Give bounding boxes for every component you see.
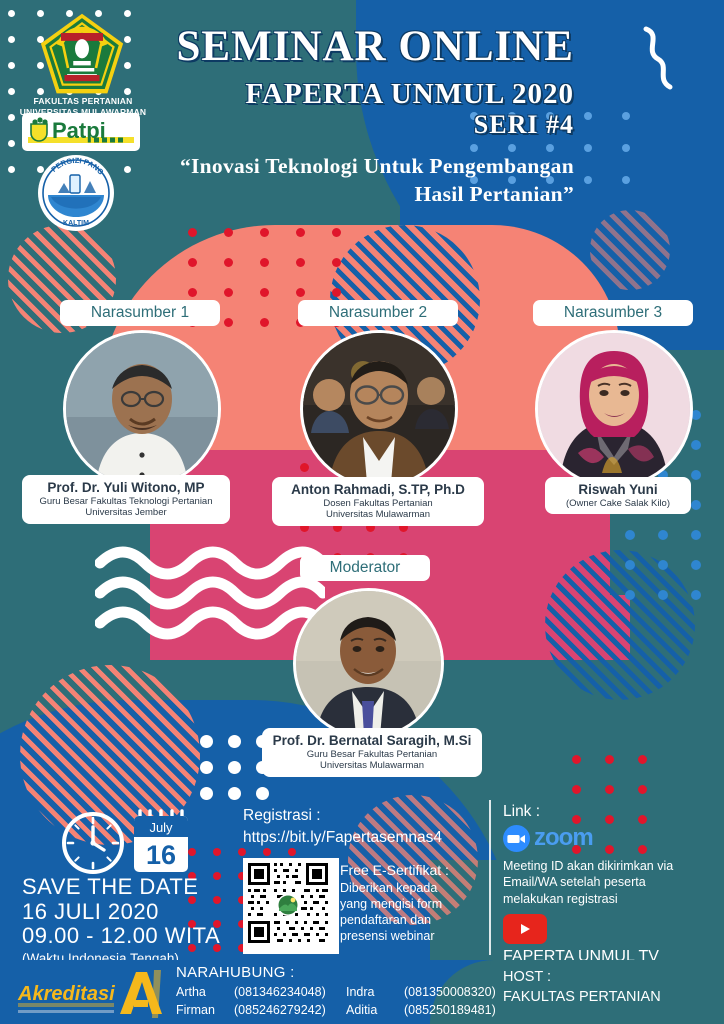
certificate-line1: Diberikan kepada <box>340 880 470 896</box>
decorative-dot <box>625 530 635 540</box>
host-block: HOST : FAKULTAS PERTANIAN <box>503 968 661 1007</box>
speaker-2-affiliation-2: Universitas Mulawarman <box>278 509 478 521</box>
svg-text:KALTIM: KALTIM <box>63 220 89 227</box>
contact-phone-4: (085250189481) <box>404 1003 496 1017</box>
decorative-dot <box>224 258 233 267</box>
decorative-dot <box>332 228 341 237</box>
speaker-2-photo <box>300 330 458 488</box>
moderator-name: Prof. Dr. Bernatal Saragih, M.Si <box>268 733 476 749</box>
speaker-3-photo <box>535 330 693 488</box>
speaker-3-chip: Narasumber 3 <box>533 300 693 326</box>
contact-name-1: Artha <box>176 983 234 1001</box>
theme-line1: “Inovasi Teknologi Untuk Pengembangan <box>34 152 574 180</box>
striped-circle-salmon-topright <box>590 210 670 290</box>
speaker-2-affiliation-1: Dosen Fakultas Pertanian <box>278 498 478 510</box>
decorative-dot <box>691 530 701 540</box>
decorative-dot <box>691 470 701 480</box>
event-time: 09.00 - 12.00 WITA <box>22 924 220 949</box>
contact-name-3: Firman <box>176 1001 234 1019</box>
zoom-camera-icon <box>503 825 530 852</box>
decorative-dot <box>188 288 197 297</box>
meeting-line3: melakukan registrasi <box>503 891 708 907</box>
save-the-date-block: SAVE THE DATE 16 JULI 2020 09.00 - 12.00… <box>22 875 220 969</box>
decorative-dot <box>188 228 197 237</box>
contacts-block: NARAHUBUNG : Artha(081346234048)Indra(08… <box>176 963 496 1019</box>
speaker-3-name: Riswah Yuni <box>551 482 685 498</box>
clock-icon <box>60 810 126 876</box>
decorative-dot <box>224 228 233 237</box>
decorative-dot <box>638 785 647 794</box>
decorative-dot <box>200 761 213 774</box>
decorative-dot <box>224 288 233 297</box>
decorative-dot <box>332 288 341 297</box>
decorative-dot <box>572 785 581 794</box>
zoom-wordmark: zoom <box>534 824 593 852</box>
speaker-3-namecard: Riswah Yuni (Owner Cake Salak Kilo) <box>545 477 691 514</box>
speaker-1-affiliation-1: Guru Besar Fakultas Teknologi Pertanian <box>28 496 224 508</box>
header-block: SEMINAR ONLINE FAPERTA UNMUL 2020 SERI #… <box>0 0 724 220</box>
decorative-dot <box>658 530 668 540</box>
speaker-1-photo <box>63 330 221 488</box>
contact-row-1: Artha(081346234048)Indra(081350008320) <box>176 983 496 1001</box>
contact-phone-1: (081346234048) <box>234 983 346 1001</box>
registration-url[interactable]: https://bit.ly/Fapertasemnas4 <box>243 827 442 849</box>
link-label: Link : <box>503 803 708 821</box>
registration-qr-code[interactable] <box>243 858 339 954</box>
page-series: SERI #4 <box>474 110 574 140</box>
speaker-2-chip: Narasumber 2 <box>298 300 458 326</box>
decorative-dot <box>300 463 309 472</box>
decorative-dot <box>260 228 269 237</box>
decorative-dot <box>296 288 305 297</box>
calendar-icon: July 16 <box>130 808 192 878</box>
decorative-dot <box>200 735 213 748</box>
decorative-dot <box>625 560 635 570</box>
meeting-info: Meeting ID akan dikirimkan via Email/WA … <box>503 858 708 907</box>
speaker-3-affiliation-1: (Owner Cake Salak Kilo) <box>551 498 685 510</box>
certificate-line2: yang mengisi form <box>340 896 470 912</box>
speaker-2-name: Anton Rahmadi, S.TP, Ph.D <box>278 482 478 498</box>
save-the-date-label: SAVE THE DATE <box>22 875 220 900</box>
contacts-label: NARAHUBUNG : <box>176 963 496 983</box>
page-title: SEMINAR ONLINE <box>177 22 574 71</box>
svg-text:16: 16 <box>146 840 176 870</box>
moderator-photo <box>293 588 444 739</box>
host-name: FAKULTAS PERTANIAN <box>503 988 661 1008</box>
decorative-dot <box>332 258 341 267</box>
contact-row-2: Firman(085246279242)Aditia(085250189481) <box>176 1001 496 1019</box>
wave-decoration <box>95 545 325 645</box>
decorative-dot <box>605 755 614 764</box>
contact-phone-2: (081350008320) <box>404 985 496 999</box>
decorative-dot <box>228 761 241 774</box>
moderator-affiliation-2: Universitas Mulawarman <box>268 760 476 772</box>
seminar-poster: FAKULTAS PERTANIAN UNIVERSITAS MULAWARMA… <box>0 0 724 1024</box>
contact-phone-3: (085246279242) <box>234 1001 346 1019</box>
moderator-namecard: Prof. Dr. Bernatal Saragih, M.Si Guru Be… <box>262 728 482 777</box>
decorative-dot <box>625 590 635 600</box>
decorative-dot <box>228 787 241 800</box>
host-label: HOST : <box>503 968 661 988</box>
decorative-dot <box>658 590 668 600</box>
decorative-dot <box>296 258 305 267</box>
decorative-dot <box>691 560 701 570</box>
decorative-dot <box>213 848 221 856</box>
play-triangle-icon <box>518 922 532 936</box>
decorative-dot <box>228 735 241 748</box>
certificate-block: Free E-Sertifikat : Diberikan kepada yan… <box>340 862 470 945</box>
page-subtitle-event: FAPERTA UNMUL 2020 <box>246 78 574 111</box>
striped-circle-blue-right <box>545 550 695 700</box>
registration-label: Registrasi : <box>243 805 442 827</box>
certificate-heading: Free E-Sertifikat : <box>340 862 470 880</box>
decorative-dot <box>691 590 701 600</box>
registration-block: Registrasi : https://bit.ly/Fapertasemna… <box>243 805 442 850</box>
svg-text:July: July <box>149 820 173 835</box>
seminar-theme: “Inovasi Teknologi Untuk Pengembangan Ha… <box>34 152 574 209</box>
event-date: 16 JULI 2020 <box>22 900 220 925</box>
decorative-dot <box>188 258 197 267</box>
link-block: Link : zoom Meeting ID akan dikirimkan v… <box>503 803 708 966</box>
akreditasi-logo: Akreditasi <box>16 966 166 1018</box>
speaker-1-chip: Narasumber 1 <box>60 300 220 326</box>
contact-name-4: Aditia <box>346 1001 404 1019</box>
decorative-dot <box>260 288 269 297</box>
decorative-dot <box>691 440 701 450</box>
theme-line2: Hasil Pertanian” <box>34 180 574 208</box>
moderator-chip: Moderator <box>300 555 430 581</box>
decorative-dot <box>224 318 233 327</box>
certificate-line3: pendaftaran dan <box>340 912 470 928</box>
moderator-affiliation-1: Guru Besar Fakultas Pertanian <box>268 749 476 761</box>
decorative-dot <box>572 755 581 764</box>
contact-name-2: Indra <box>346 983 404 1001</box>
decorative-dot <box>605 785 614 794</box>
decorative-dot <box>256 787 269 800</box>
speaker-1-namecard: Prof. Dr. Yuli Witono, MP Guru Besar Fak… <box>22 475 230 524</box>
zoom-logo[interactable]: zoom <box>503 824 708 852</box>
speaker-1-affiliation-2: Universitas Jember <box>28 507 224 519</box>
decorative-dot <box>658 560 668 570</box>
certificate-line4: presensi webinar <box>340 928 470 944</box>
svg-text:Akreditasi: Akreditasi <box>17 983 115 1005</box>
decorative-dot <box>200 787 213 800</box>
decorative-dot <box>260 318 269 327</box>
youtube-icon[interactable] <box>503 914 547 944</box>
decorative-dot <box>638 755 647 764</box>
meeting-line2: Email/WA setelah peserta <box>503 874 708 890</box>
decorative-dot <box>296 228 305 237</box>
decorative-dot <box>691 500 701 510</box>
meeting-line1: Meeting ID akan dikirimkan via <box>503 858 708 874</box>
speaker-1-name: Prof. Dr. Yuli Witono, MP <box>28 480 224 496</box>
speaker-2-namecard: Anton Rahmadi, S.TP, Ph.D Dosen Fakultas… <box>272 477 484 526</box>
decorative-dot <box>260 258 269 267</box>
vertical-divider <box>489 800 491 955</box>
